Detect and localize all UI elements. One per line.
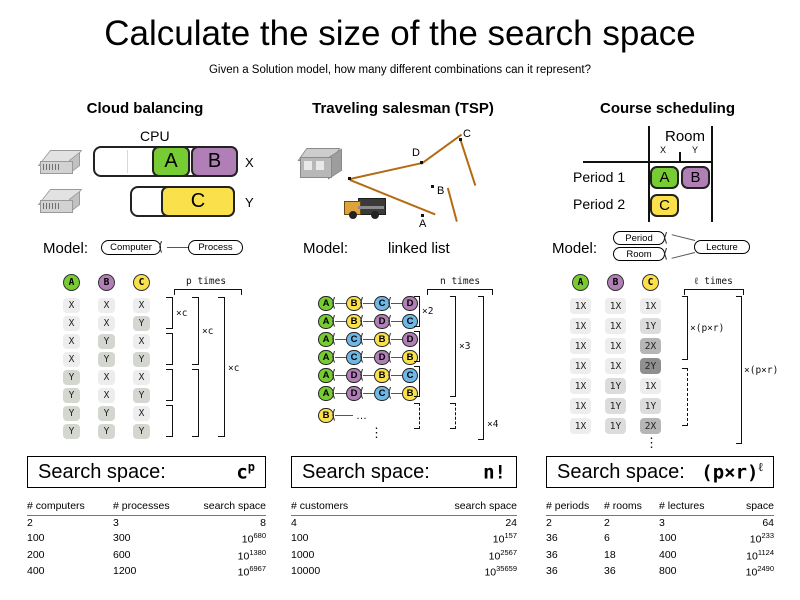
bracket-top-cloud bbox=[174, 289, 242, 295]
node-label-c: C bbox=[463, 128, 471, 140]
enum-header-label: A bbox=[69, 277, 75, 288]
table-cell: 4 bbox=[291, 516, 411, 531]
server-icon-y bbox=[40, 187, 80, 215]
search-space-label: Search space: bbox=[547, 461, 685, 484]
table-cell: 106967 bbox=[201, 563, 266, 580]
table-cell: 24 bbox=[411, 516, 517, 531]
course-chip-b: B bbox=[681, 166, 710, 189]
route-segment-d-c bbox=[421, 134, 462, 165]
enum-cell: 1X bbox=[605, 358, 626, 374]
enum-cell: X bbox=[98, 388, 115, 403]
bracket-cs1 bbox=[682, 296, 688, 360]
table-cell: 300 bbox=[113, 530, 201, 547]
enum-cell: X bbox=[133, 298, 150, 313]
search-space-box-course: Search space: (p×r)ℓ bbox=[546, 456, 774, 488]
node-label-d: D bbox=[412, 147, 420, 159]
enum-cell: Y bbox=[98, 424, 115, 439]
column-title-traveling-salesman: Traveling salesman (TSP) bbox=[278, 100, 528, 117]
table-row: 10010157 bbox=[291, 530, 517, 547]
table-row: 238 bbox=[27, 516, 266, 531]
chip-label: A bbox=[659, 169, 669, 186]
period-2-label: Period 2 bbox=[573, 196, 625, 212]
table-cell: 100 bbox=[659, 530, 727, 547]
table-header-cell: search space bbox=[411, 498, 517, 516]
enum-cell: Y bbox=[133, 316, 150, 331]
ellipsis-vertical-tsp: ⋮ bbox=[370, 430, 383, 436]
chain-arrowhead-partial: ⟨ bbox=[331, 409, 336, 422]
chain-arrowhead: ⟨ bbox=[331, 369, 336, 382]
search-space-box-tsp: Search space: n! bbox=[291, 456, 517, 488]
table-header-cell: # computers bbox=[27, 498, 113, 516]
exponent: 680 bbox=[253, 531, 266, 540]
chain-arrowhead: ⟨ bbox=[387, 315, 392, 328]
table-row: 3618400101124 bbox=[546, 547, 774, 564]
table-cell: 3 bbox=[659, 516, 727, 531]
enum-cell: 1X bbox=[640, 378, 661, 394]
table-cell: 6 bbox=[604, 530, 659, 547]
route-segment-depot-d bbox=[350, 162, 422, 179]
table-cell: 800 bbox=[659, 563, 727, 580]
node-depot bbox=[348, 177, 351, 180]
table-row: 200600101380 bbox=[27, 547, 266, 564]
bracket-label-n-times: n times bbox=[440, 276, 480, 287]
table-cell: 102567 bbox=[411, 547, 517, 564]
table-cell: 36 bbox=[604, 563, 659, 580]
table-cell: 600 bbox=[113, 547, 201, 564]
enum-cell: Y bbox=[63, 388, 80, 403]
bracket-c1-4 bbox=[166, 405, 173, 437]
model-arrow-cloud: ⟨ bbox=[158, 241, 163, 254]
exponent: 6967 bbox=[249, 564, 266, 573]
chain-link bbox=[391, 339, 402, 340]
route-segment-b-a bbox=[447, 188, 458, 222]
table-cell: 36 bbox=[546, 563, 604, 580]
enum-cell: X bbox=[133, 370, 150, 385]
chain-arrowhead: ⟨ bbox=[359, 387, 364, 400]
cpu-label: CPU bbox=[140, 128, 170, 144]
enum-header-c: C bbox=[133, 274, 150, 291]
entity-label: Period bbox=[625, 233, 652, 244]
model-link-period bbox=[672, 234, 696, 241]
chip-label: B bbox=[690, 169, 700, 186]
chain-link bbox=[335, 393, 346, 394]
node-c bbox=[459, 138, 462, 141]
chain-link bbox=[391, 393, 402, 394]
bracket-t1-dashed bbox=[414, 403, 420, 429]
table-cell: 100 bbox=[291, 530, 411, 547]
table-cell: 1000 bbox=[291, 547, 411, 564]
multiplier-c-1: ×c bbox=[176, 308, 187, 319]
chain-arrowhead: ⟨ bbox=[331, 351, 336, 364]
table-cell: 400 bbox=[659, 547, 727, 564]
entity-computer: Computer bbox=[101, 240, 161, 255]
chain-link bbox=[335, 357, 346, 358]
chip-label: B bbox=[208, 150, 221, 173]
chain-link bbox=[391, 303, 402, 304]
table-cell: 102490 bbox=[727, 563, 774, 580]
table-header-cell: # customers bbox=[291, 498, 411, 516]
chain-arrowhead: ⟨ bbox=[331, 387, 336, 400]
bracket-t1-1 bbox=[414, 296, 420, 327]
table-header-cell: # processes bbox=[113, 498, 201, 516]
enum-cell: 1X bbox=[570, 338, 591, 354]
table-row: 22364 bbox=[546, 516, 774, 531]
enum-cell: X bbox=[98, 370, 115, 385]
enum-cell: 1X bbox=[640, 298, 661, 314]
enum-cell: Y bbox=[63, 370, 80, 385]
table-traveling-salesman: # customerssearch space42410010157100010… bbox=[291, 498, 517, 580]
warehouse-icon bbox=[300, 148, 344, 182]
chain-link bbox=[335, 303, 346, 304]
enum-header-b-course: B bbox=[607, 274, 624, 291]
table-row: 36610010233 bbox=[546, 530, 774, 547]
chain-link bbox=[363, 303, 374, 304]
chain-link bbox=[391, 357, 402, 358]
enum-cell: X bbox=[98, 316, 115, 331]
chain-link bbox=[363, 339, 374, 340]
table-cell: 36 bbox=[546, 530, 604, 547]
enum-cell: Y bbox=[133, 388, 150, 403]
enum-cell: X bbox=[63, 316, 80, 331]
chip-label: C bbox=[191, 190, 205, 213]
entity-process: Process bbox=[188, 240, 243, 255]
enum-cell: 1Y bbox=[605, 418, 626, 434]
multiplier-x4: ×4 bbox=[487, 419, 498, 430]
enum-header-label: A bbox=[578, 277, 584, 288]
table-row: 1000102567 bbox=[291, 547, 517, 564]
enum-header-c-course: C bbox=[642, 274, 659, 291]
chain-link bbox=[391, 321, 402, 322]
enum-cell: 2X bbox=[640, 338, 661, 354]
chain-arrowhead: ⟨ bbox=[359, 351, 364, 364]
course-chip-c: C bbox=[650, 194, 679, 217]
enum-cell: X bbox=[133, 334, 150, 349]
table-cell: 36 bbox=[546, 547, 604, 564]
chain-link bbox=[363, 357, 374, 358]
entity-room: Room bbox=[613, 247, 665, 261]
enum-cell: 2Y bbox=[640, 358, 661, 374]
machine-label-y: Y bbox=[245, 195, 254, 210]
table-row: 4001200106967 bbox=[27, 563, 266, 580]
enum-cell: X bbox=[63, 352, 80, 367]
bracket-t1-2 bbox=[414, 331, 420, 362]
exponent: 157 bbox=[504, 531, 517, 540]
bracket-c3-1 bbox=[218, 297, 225, 437]
table-cell: 2 bbox=[604, 516, 659, 531]
chain-arrowhead: ⟨ bbox=[331, 315, 336, 328]
period-1-label: Period 1 bbox=[573, 169, 625, 185]
formula-base: n! bbox=[483, 462, 506, 484]
enum-header-b: B bbox=[98, 274, 115, 291]
server-icon-x bbox=[40, 148, 80, 176]
machine-label-x: X bbox=[245, 155, 254, 170]
chain-link-partial bbox=[335, 415, 353, 416]
enum-cell: 1X bbox=[570, 418, 591, 434]
chain-link bbox=[335, 375, 346, 376]
bracket-t2-dashed bbox=[450, 403, 456, 429]
table-row: 10030010680 bbox=[27, 530, 266, 547]
search-space-formula: n! bbox=[483, 460, 516, 483]
multiplier-x3: ×3 bbox=[459, 341, 470, 352]
bracket-c1-1 bbox=[166, 297, 173, 329]
enum-cell: 1X bbox=[605, 338, 626, 354]
chain-arrowhead: ⟨ bbox=[387, 351, 392, 364]
exponent: 1124 bbox=[758, 548, 774, 557]
column-title-course-scheduling: Course scheduling bbox=[540, 100, 795, 117]
ellipsis-vertical: ⋮ bbox=[645, 440, 658, 446]
bracket-label-p-times: p times bbox=[186, 276, 226, 287]
enum-cell: 1X bbox=[570, 378, 591, 394]
enum-header-label: B bbox=[104, 277, 110, 288]
model-label-cloud: Model: bbox=[43, 240, 88, 257]
chain-link bbox=[335, 321, 346, 322]
table-row: 3636800102490 bbox=[546, 563, 774, 580]
entity-period: Period bbox=[613, 231, 665, 245]
enum-header-label: C bbox=[139, 277, 145, 288]
enum-cell: 1Y bbox=[640, 398, 661, 414]
table-course-scheduling: # periods# rooms# lecturesspace223643661… bbox=[546, 498, 774, 580]
node-label-b: B bbox=[437, 185, 444, 197]
model-arrow-period: ⟨ bbox=[663, 232, 668, 245]
table-header-cell: space bbox=[727, 498, 774, 516]
multiplier-x2: ×2 bbox=[422, 306, 433, 317]
model-link-room bbox=[672, 252, 696, 259]
enum-header-a-course: A bbox=[572, 274, 589, 291]
enum-cell: Y bbox=[98, 406, 115, 421]
room-col-y-label: Y bbox=[692, 145, 698, 155]
enum-cell: X bbox=[63, 334, 80, 349]
slide-root: Calculate the size of the search space G… bbox=[0, 0, 800, 600]
enum-cell: X bbox=[63, 298, 80, 313]
enum-cell: 1Y bbox=[605, 398, 626, 414]
table-cloud-balancing: # computers# processessearch space238100… bbox=[27, 498, 266, 580]
node-a bbox=[421, 214, 424, 217]
route-segment-c-b bbox=[460, 141, 476, 186]
enum-cell: 2X bbox=[640, 418, 661, 434]
chain-ellipsis: … bbox=[356, 410, 367, 422]
exponent: 233 bbox=[761, 531, 774, 540]
model-label-course: Model: bbox=[552, 240, 597, 257]
bracket-c1-3 bbox=[166, 369, 173, 401]
bracket-top-course bbox=[684, 289, 744, 295]
room-col-x-label: X bbox=[660, 145, 666, 155]
enum-header-label: B bbox=[613, 277, 619, 288]
formula-base: c bbox=[236, 462, 247, 484]
model-text-tsp: linked list bbox=[388, 240, 450, 257]
formula-exponent: ℓ bbox=[759, 460, 764, 474]
entity-label: Computer bbox=[110, 242, 152, 253]
model-arrow-room: ⟨ bbox=[663, 248, 668, 261]
table-cell: 200 bbox=[27, 547, 113, 564]
page-subtitle: Given a Solution model, how many differe… bbox=[0, 64, 800, 76]
table-cell: 2 bbox=[546, 516, 604, 531]
chain-link bbox=[363, 393, 374, 394]
bracket-c2-1 bbox=[192, 297, 199, 365]
table-cell: 400 bbox=[27, 563, 113, 580]
model-link-line-cloud bbox=[167, 247, 189, 248]
bracket-c2-2 bbox=[192, 369, 199, 437]
chip-label: C bbox=[659, 197, 670, 214]
table-cell: 1035659 bbox=[411, 563, 517, 580]
search-space-formula: cp bbox=[236, 460, 265, 483]
chain-arrowhead: ⟨ bbox=[331, 297, 336, 310]
node-label-a: A bbox=[419, 218, 426, 230]
table-row: 424 bbox=[291, 516, 517, 531]
table-cell: 1200 bbox=[113, 563, 201, 580]
chain-link bbox=[363, 321, 374, 322]
node-d bbox=[420, 161, 423, 164]
chain-arrowhead: ⟨ bbox=[387, 333, 392, 346]
chain-link bbox=[363, 375, 374, 376]
bracket-top-tsp bbox=[427, 289, 493, 295]
bracket-c1-2 bbox=[166, 333, 173, 365]
table-cell: 10233 bbox=[727, 530, 774, 547]
node-b bbox=[431, 185, 434, 188]
enum-cell: X bbox=[98, 298, 115, 313]
table-header-cell: # lectures bbox=[659, 498, 727, 516]
exponent: 2490 bbox=[757, 564, 774, 573]
exponent: 1380 bbox=[249, 548, 266, 557]
enum-cell: Y bbox=[63, 406, 80, 421]
chain-link bbox=[391, 375, 402, 376]
search-space-formula: (p×r)ℓ bbox=[701, 460, 773, 483]
multiplier-c-2: ×c bbox=[202, 326, 213, 337]
table-cell: 10157 bbox=[411, 530, 517, 547]
multiplier-pr-1: ×(p×r) bbox=[690, 323, 724, 334]
enum-cell: 1Y bbox=[640, 318, 661, 334]
table-cell: 8 bbox=[201, 516, 266, 531]
enum-cell: X bbox=[133, 406, 150, 421]
chain-arrowhead: ⟨ bbox=[359, 297, 364, 310]
enum-cell: 1X bbox=[570, 318, 591, 334]
enum-cell: 1X bbox=[605, 318, 626, 334]
table-cell: 18 bbox=[604, 547, 659, 564]
bracket-t3-1 bbox=[478, 296, 484, 440]
search-space-box-cloud: Search space: cp bbox=[27, 456, 266, 488]
bracket-cs2 bbox=[736, 296, 742, 444]
table-header-cell: search space bbox=[201, 498, 266, 516]
enum-cell: Y bbox=[63, 424, 80, 439]
entity-label: Room bbox=[626, 249, 651, 260]
bracket-label-l-times: ℓ times bbox=[694, 276, 733, 287]
table-cell: 10680 bbox=[201, 530, 266, 547]
entity-label: Lecture bbox=[706, 242, 738, 253]
chip-c-bar: C bbox=[161, 186, 235, 217]
table-header-cell: # rooms bbox=[604, 498, 659, 516]
enum-cell: Y bbox=[98, 352, 115, 367]
search-space-label: Search space: bbox=[292, 461, 430, 484]
entity-label: Process bbox=[198, 242, 232, 253]
chip-label: A bbox=[164, 150, 177, 173]
chain-arrowhead: ⟨ bbox=[387, 369, 392, 382]
bracket-cs1-dashed bbox=[682, 368, 688, 426]
chip-a-bar: A bbox=[152, 146, 190, 177]
enum-header-a: A bbox=[63, 274, 80, 291]
chain-link bbox=[335, 339, 346, 340]
page-title: Calculate the size of the search space bbox=[0, 14, 800, 54]
formula-exponent: p bbox=[248, 460, 255, 474]
room-label: Room bbox=[665, 128, 705, 145]
exponent: 2567 bbox=[500, 548, 517, 557]
enum-cell: 1X bbox=[570, 398, 591, 414]
bracket-t1-3 bbox=[414, 366, 420, 397]
truck-icon bbox=[343, 196, 387, 222]
chain-arrowhead: ⟨ bbox=[387, 297, 392, 310]
chain-arrowhead: ⟨ bbox=[359, 315, 364, 328]
chain-arrowhead: ⟨ bbox=[359, 369, 364, 382]
search-space-label: Search space: bbox=[28, 461, 166, 484]
exponent: 35659 bbox=[496, 564, 517, 573]
enum-cell: 1X bbox=[570, 298, 591, 314]
multiplier-c-3: ×c bbox=[228, 363, 239, 374]
table-cell: 101380 bbox=[201, 547, 266, 564]
bracket-t2-1 bbox=[450, 296, 456, 397]
table-cell: 100 bbox=[27, 530, 113, 547]
enum-cell: Y bbox=[98, 334, 115, 349]
enum-header-label: C bbox=[648, 277, 654, 288]
enum-cell: Y bbox=[133, 424, 150, 439]
table-cell: 2 bbox=[27, 516, 113, 531]
table-cell: 10000 bbox=[291, 563, 411, 580]
enum-cell: 1X bbox=[605, 298, 626, 314]
enum-cell: 1Y bbox=[605, 378, 626, 394]
table-cell: 3 bbox=[113, 516, 201, 531]
entity-lecture: Lecture bbox=[694, 240, 750, 254]
chain-arrowhead: ⟨ bbox=[359, 333, 364, 346]
course-chip-a: A bbox=[650, 166, 679, 189]
table-cell: 101124 bbox=[727, 547, 774, 564]
formula-base: (p×r) bbox=[701, 462, 758, 484]
enum-cell: 1X bbox=[570, 358, 591, 374]
model-label-tsp: Model: bbox=[303, 240, 348, 257]
grid-hline bbox=[583, 161, 711, 163]
column-title-cloud-balancing: Cloud balancing bbox=[20, 100, 270, 117]
enum-cell: Y bbox=[133, 352, 150, 367]
table-header-cell: # periods bbox=[546, 498, 604, 516]
multiplier-pr-2: ×(p×r) bbox=[744, 365, 778, 376]
chain-arrowhead: ⟨ bbox=[387, 387, 392, 400]
chain-arrowhead: ⟨ bbox=[331, 333, 336, 346]
chip-b-bar: B bbox=[191, 146, 238, 177]
grid-vline-right bbox=[711, 126, 713, 222]
table-row: 100001035659 bbox=[291, 563, 517, 580]
table-cell: 64 bbox=[727, 516, 774, 531]
